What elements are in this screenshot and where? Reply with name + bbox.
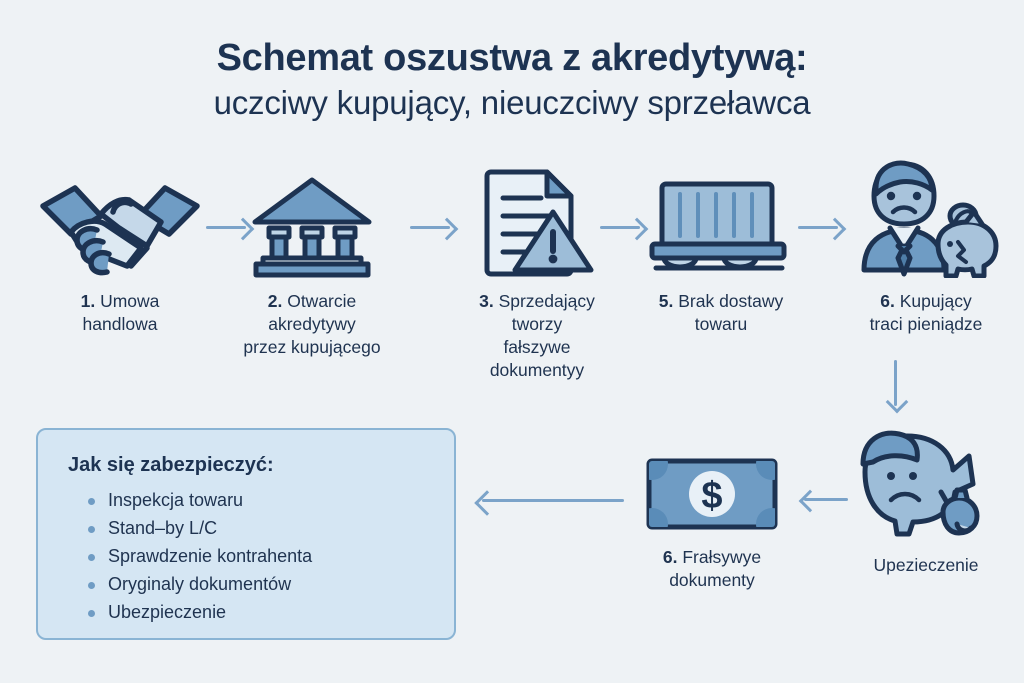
step-3-number: 3. <box>479 291 494 311</box>
step-5-number: 5. <box>659 291 674 311</box>
tips-box: Jak się zabezpieczyć: Inspekcja towaru S… <box>36 428 456 640</box>
step-5-label: Brak dostawy towaru <box>678 291 783 334</box>
page-title: Schemat oszustwa z akredytywą: uczciwy k… <box>0 36 1024 123</box>
container-truck-icon <box>646 168 796 278</box>
tips-item: Inspekcja towaru <box>88 487 428 515</box>
banknote-dollar-icon: $ <box>644 452 780 534</box>
step-5-caption: 5. Brak dostawy towaru <box>659 290 784 336</box>
title-line-1: Schemat oszustwa z akredytywą: <box>0 36 1024 80</box>
tips-title: Jak się zabezpieczyć: <box>68 454 428 477</box>
step-3-label: Sprzedający tworzy fałszywe dokumentyy <box>490 291 595 380</box>
arrow-insurance-to-money <box>796 492 850 508</box>
step-insurance-label: Upezieczenie <box>873 555 978 575</box>
step-1-number: 1. <box>81 291 96 311</box>
step-6-caption: 6. Kupujący traci pieniądze <box>870 290 983 336</box>
step-2-number: 2. <box>268 291 283 311</box>
step-5-node: 5. Brak dostawy towaru <box>632 168 810 336</box>
arrow-6-down <box>888 360 906 414</box>
step-3-node: 3. Sprzedający tworzy fałszywe dokumenty… <box>446 163 628 382</box>
step-6-node: 6. Kupujący traci pieniądze <box>828 158 1024 336</box>
step-2-caption: 2. Otwarcie akredytywy przez kupującego <box>243 290 380 359</box>
step-6-number: 6. <box>880 291 895 311</box>
sad-businessman-piggybank-icon <box>846 158 1006 278</box>
document-warning-icon <box>475 163 599 278</box>
handshake-icon <box>35 168 205 278</box>
title-line-2: uczciwy kupujący, nieuczciwy sprzeławca <box>0 83 1024 123</box>
step-2-label: Otwarcie akredytywy przez kupującego <box>243 291 380 357</box>
step-1-label: Umowa handlowa <box>83 291 160 334</box>
step-money-node: $ 6. Frałsywye dokumenty <box>624 452 800 592</box>
svg-text:$: $ <box>701 475 722 517</box>
step-3-caption: 3. Sprzedający tworzy fałszywe dokumenty… <box>479 290 595 382</box>
step-2-node: 2. Otwarcie akredytywy przez kupującego <box>212 168 412 359</box>
tips-item: Sprawdzenie kontrahenta <box>88 543 428 571</box>
step-money-number: 6. <box>663 547 678 567</box>
step-money-caption: 6. Frałsywye dokumenty <box>663 546 761 592</box>
step-1-node: 1. Umowa handlowa <box>22 168 218 336</box>
infographic-canvas: Schemat oszustwa z akredytywą: uczciwy k… <box>0 0 1024 683</box>
tips-item: Stand–by L/C <box>88 515 428 543</box>
step-1-caption: 1. Umowa handlowa <box>81 290 160 336</box>
step-money-label: Frałsywye dokumenty <box>669 547 761 590</box>
broken-piggybank-icon <box>851 424 1001 542</box>
bank-icon <box>247 168 377 278</box>
arrow-money-to-tips <box>468 492 628 510</box>
step-insurance-node: Upezieczenie <box>830 424 1022 577</box>
tips-list: Inspekcja towaru Stand–by L/C Sprawdzeni… <box>66 487 428 626</box>
step-insurance-caption: Upezieczenie <box>873 554 978 577</box>
tips-item: Ubezpieczenie <box>88 599 428 627</box>
tips-item: Oryginaly dokumentów <box>88 571 428 599</box>
